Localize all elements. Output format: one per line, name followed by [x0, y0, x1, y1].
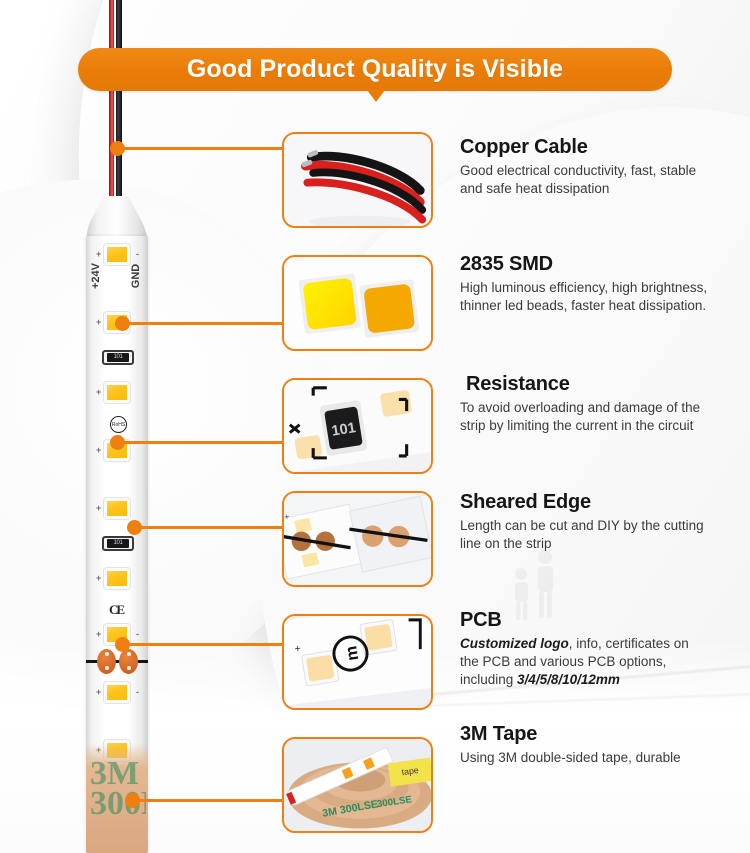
thumbnail-card-sheared-edge[interactable]: +	[282, 491, 433, 587]
feature-description: Customized logo, info, certificates on t…	[460, 635, 710, 689]
connector-line-2835-smd	[125, 322, 284, 325]
cut-pads-photo: +	[284, 493, 431, 586]
led-chip	[104, 244, 130, 265]
headline-banner: Good Product Quality is Visible	[78, 48, 672, 91]
thumbnail-card-2835-smd[interactable]	[282, 255, 433, 351]
polarity-plus-label: +	[96, 250, 101, 259]
feature-text-pcb: PCB Customized logo, info, certificates …	[460, 609, 710, 689]
resistor-photo: 101	[284, 380, 431, 473]
cut-line	[86, 660, 148, 663]
feature-text-3m-tape: 3M Tape Using 3M double-sided tape, dura…	[460, 723, 710, 767]
banner-title: Good Product Quality is Visible	[187, 55, 563, 84]
polarity-plus-label: +	[96, 388, 101, 397]
feature-description: Length can be cut and DIY by the cutting…	[460, 517, 710, 553]
thumbnail-card-resistance[interactable]: 101	[282, 378, 433, 474]
feature-description: High luminous efficiency, high brightnes…	[460, 279, 710, 315]
thumbnail-card-3m-tape[interactable]: 3M 300LSE 300LSE tape	[282, 737, 433, 833]
thumbnail-card-copper-cable[interactable]	[282, 132, 433, 228]
connector-dot-2835-smd	[115, 316, 130, 331]
connector-dot-3m-tape	[125, 793, 140, 808]
polarity-plus-label: +	[96, 446, 101, 455]
feature-description: Using 3M double-sided tape, durable	[460, 749, 710, 767]
thumbnail-card-pcb[interactable]: m +	[282, 614, 433, 710]
connector-line-resistance	[120, 441, 284, 444]
connector-dot-sheared-edge	[127, 520, 142, 535]
copper-cable-photo	[284, 134, 431, 227]
feature-text-copper-cable: Copper Cable Good electrical conductivit…	[460, 136, 710, 198]
polarity-plus-label: +	[96, 318, 101, 327]
connector-line-copper-cable	[120, 147, 284, 150]
resistor-component: 101	[102, 536, 134, 551]
polarity-minus-label: -	[136, 688, 139, 697]
copper-cut-pad	[97, 649, 116, 674]
polarity-plus-label: +	[96, 574, 101, 583]
feature-title: Copper Cable	[460, 136, 710, 159]
connector-line-sheared-edge	[135, 526, 284, 529]
connector-dot-pcb	[115, 637, 130, 652]
connector-line-3m-tape	[135, 799, 284, 802]
feature-description: To avoid overloading and damage of the s…	[460, 399, 710, 435]
feature-text-2835-smd: 2835 SMD High luminous efficiency, high …	[460, 253, 710, 315]
voltage-label: +24V	[90, 263, 102, 289]
connector-dot-resistance	[110, 435, 125, 450]
polarity-minus-label: -	[136, 250, 139, 259]
feature-title: 3M Tape	[460, 723, 710, 746]
resistor-code: 101	[107, 353, 129, 362]
polarity-minus-label: -	[136, 630, 139, 639]
polarity-plus-label: +	[96, 630, 101, 639]
feature-title: PCB	[460, 609, 710, 632]
resistor-component: 101	[102, 350, 134, 365]
ce-mark-icon: CE	[109, 602, 123, 618]
polarity-plus-label: +	[96, 688, 101, 697]
led-chip	[104, 498, 130, 519]
led-chip	[104, 682, 130, 703]
ground-label: GND	[130, 264, 142, 288]
feature-title: Resistance	[460, 373, 710, 396]
resistor-code: 101	[107, 539, 129, 548]
led-chip	[104, 382, 130, 403]
infographic-stage: + - +24V GND + 101 + RoHS + + 101 + CE	[0, 0, 750, 853]
smd-led-photo	[284, 257, 431, 350]
feature-text-sheared-edge: Sheared Edge Length can be cut and DIY b…	[460, 491, 710, 553]
connector-dot-copper-cable	[110, 141, 125, 156]
3m-tape-roll-photo: 3M 300LSE 300LSE tape	[284, 739, 431, 832]
connector-line-pcb	[125, 643, 284, 646]
copper-cut-pad	[119, 649, 138, 674]
polarity-plus-label: +	[96, 504, 101, 513]
feature-text-resistance: Resistance To avoid overloading and dama…	[460, 373, 710, 435]
svg-text:m: m	[341, 645, 362, 662]
rohs-mark-icon: RoHS	[110, 416, 127, 433]
feature-title: Sheared Edge	[460, 491, 710, 514]
feature-title: 2835 SMD	[460, 253, 710, 276]
led-chip	[104, 568, 130, 589]
banner-pointer-icon	[367, 90, 385, 102]
pcb-logo-photo: m +	[284, 616, 431, 709]
feature-description: Good electrical conductivity, fast, stab…	[460, 162, 710, 198]
